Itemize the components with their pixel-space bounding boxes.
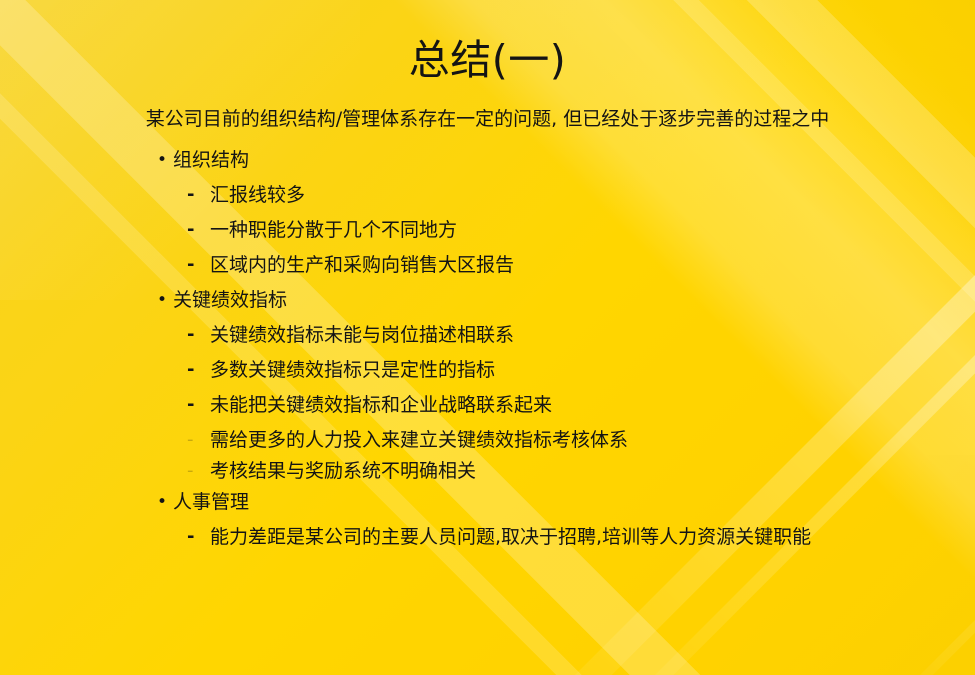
- slide-title: 总结(一): [0, 38, 975, 83]
- slide-content: 总结(一) 某公司目前的组织结构/管理体系存在一定的问题, 但已经处于逐步完善的…: [0, 0, 975, 675]
- sub-bullet-item-label: 区域内的生产和采购向销售大区报告: [210, 249, 514, 281]
- bullet-dot-icon: •: [157, 144, 167, 176]
- sub-bullet-item: -能力差距是某公司的主要人员问题,取决于招聘,培训等人力资源关键职能: [0, 521, 975, 556]
- dash-marker-icon: -: [187, 354, 194, 386]
- dash-marker-icon: -: [187, 319, 194, 351]
- sub-bullet-item: -未能把关键绩效指标和企业战略联系起来: [0, 389, 975, 424]
- bullet-item: •组织结构: [0, 144, 975, 179]
- sub-bullet-item: -考核结果与奖励系统不明确相关: [0, 455, 975, 486]
- sub-bullet-item-label: 能力差距是某公司的主要人员问题,取决于招聘,培训等人力资源关键职能: [210, 521, 811, 553]
- dash-marker-icon: -: [187, 455, 194, 487]
- sub-bullet-item: -一种职能分散于几个不同地方: [0, 214, 975, 249]
- dash-marker-icon: -: [187, 214, 194, 246]
- sub-bullet-item-label: 需给更多的人力投入来建立关键绩效指标考核体系: [210, 424, 628, 456]
- sub-bullet-item: -多数关键绩效指标只是定性的指标: [0, 354, 975, 389]
- presentation-slide: 总结(一) 某公司目前的组织结构/管理体系存在一定的问题, 但已经处于逐步完善的…: [0, 0, 975, 675]
- slide-lead-paragraph: 某公司目前的组织结构/管理体系存在一定的问题, 但已经处于逐步完善的过程之中: [0, 108, 975, 132]
- dash-marker-icon: -: [187, 179, 194, 211]
- dash-marker-icon: -: [187, 424, 194, 456]
- sub-bullet-item-label: 一种职能分散于几个不同地方: [210, 214, 457, 246]
- bullet-dot-icon: •: [157, 486, 167, 518]
- dash-marker-icon: -: [187, 521, 194, 553]
- sub-bullet-item: -需给更多的人力投入来建立关键绩效指标考核体系: [0, 424, 975, 455]
- sub-bullet-item-label: 多数关键绩效指标只是定性的指标: [210, 354, 495, 386]
- sub-bullet-item: -关键绩效指标未能与岗位描述相联系: [0, 319, 975, 354]
- dash-marker-icon: -: [187, 389, 194, 421]
- sub-bullet-item-label: 汇报线较多: [210, 179, 305, 211]
- bullet-item-label: 人事管理: [173, 486, 249, 518]
- bullet-item: •关键绩效指标: [0, 284, 975, 319]
- dash-marker-icon: -: [187, 249, 194, 281]
- sub-bullet-item-label: 关键绩效指标未能与岗位描述相联系: [210, 319, 514, 351]
- bullet-item-label: 关键绩效指标: [173, 284, 287, 316]
- sub-bullet-item-label: 未能把关键绩效指标和企业战略联系起来: [210, 389, 552, 421]
- bullet-item: •人事管理: [0, 486, 975, 521]
- bullet-list: •组织结构-汇报线较多-一种职能分散于几个不同地方-区域内的生产和采购向销售大区…: [0, 144, 975, 556]
- sub-bullet-item: -汇报线较多: [0, 179, 975, 214]
- bullet-item-label: 组织结构: [173, 144, 249, 176]
- bullet-dot-icon: •: [157, 284, 167, 316]
- sub-bullet-item: -区域内的生产和采购向销售大区报告: [0, 249, 975, 284]
- sub-bullet-item-label: 考核结果与奖励系统不明确相关: [210, 455, 476, 487]
